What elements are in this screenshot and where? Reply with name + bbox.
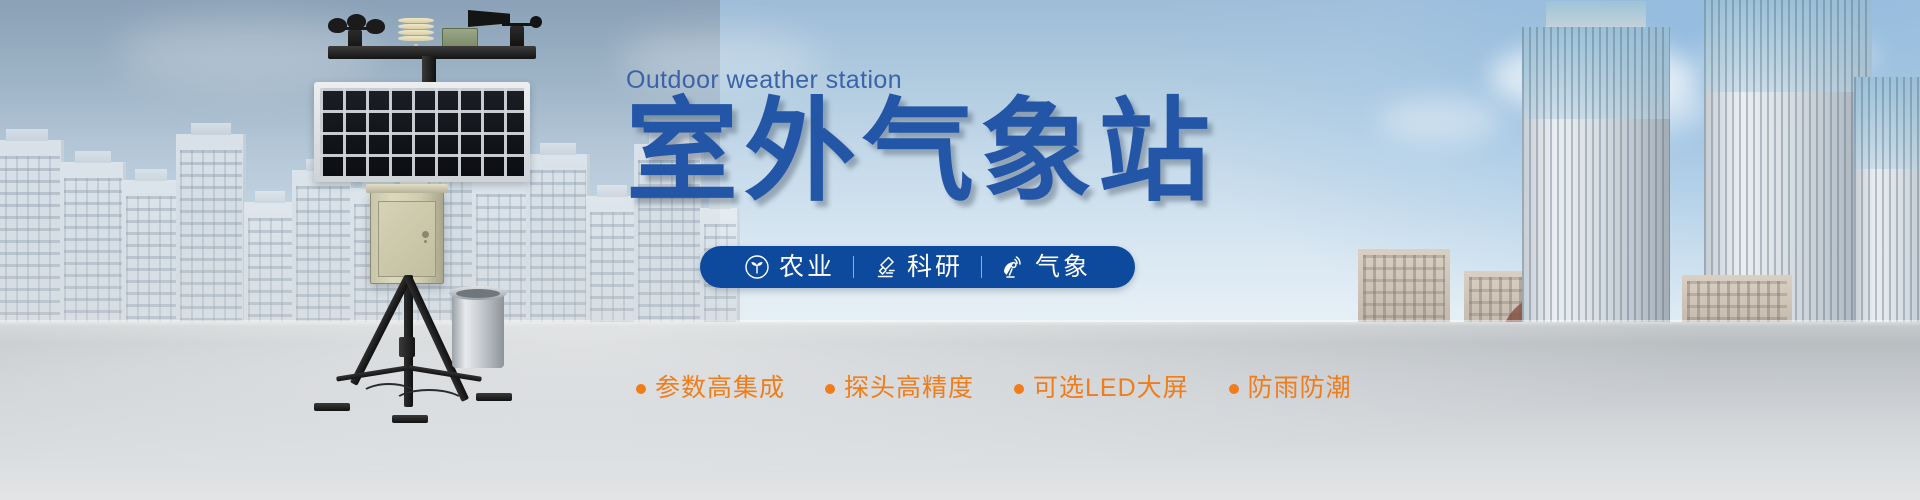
badge-label: 科研	[907, 255, 963, 280]
weather-station-product	[300, 0, 630, 420]
bullet-dot-icon	[1229, 384, 1239, 394]
feature-label: 探头高精度	[844, 376, 974, 401]
list-item: 可选LED大屏	[1014, 376, 1189, 401]
badge-item-agriculture[interactable]: 农业	[726, 254, 853, 280]
radiation-shield	[398, 18, 434, 48]
solar-panel	[314, 82, 530, 182]
wind-vane	[468, 10, 538, 50]
mast-upper	[422, 56, 436, 82]
badge-label: 气象	[1035, 255, 1091, 280]
microscope-icon	[872, 254, 898, 280]
list-item: 参数高集成	[636, 376, 785, 401]
badge-label: 农业	[779, 255, 835, 280]
control-cabinet	[370, 190, 444, 284]
list-item: 防雨防潮	[1229, 376, 1352, 401]
product-banner: Outdoor weather station 室外气象站 农业 科研	[0, 0, 1920, 500]
badge-item-research[interactable]: 科研	[854, 254, 981, 280]
rain-gauge	[452, 292, 504, 368]
ground-sheen	[0, 322, 1920, 500]
feature-list: 参数高集成 探头高精度 可选LED大屏 防雨防潮	[636, 376, 1352, 401]
satellite-dish-icon	[1000, 254, 1026, 280]
page-title: 室外气象站	[626, 96, 1216, 208]
application-badge: 农业 科研 气象	[700, 246, 1135, 288]
list-item: 探头高精度	[825, 376, 974, 401]
bullet-dot-icon	[1014, 384, 1024, 394]
horizon-line	[0, 320, 1920, 326]
feature-label: 参数高集成	[655, 376, 785, 401]
skyline-right	[1360, 0, 1920, 345]
feature-label: 可选LED大屏	[1033, 376, 1189, 401]
badge-item-meteorology[interactable]: 气象	[982, 254, 1109, 280]
anemometer-icon	[328, 14, 384, 50]
sprout-circle-icon	[744, 254, 770, 280]
feature-label: 防雨防潮	[1248, 376, 1352, 401]
bullet-dot-icon	[636, 384, 646, 394]
bullet-dot-icon	[825, 384, 835, 394]
